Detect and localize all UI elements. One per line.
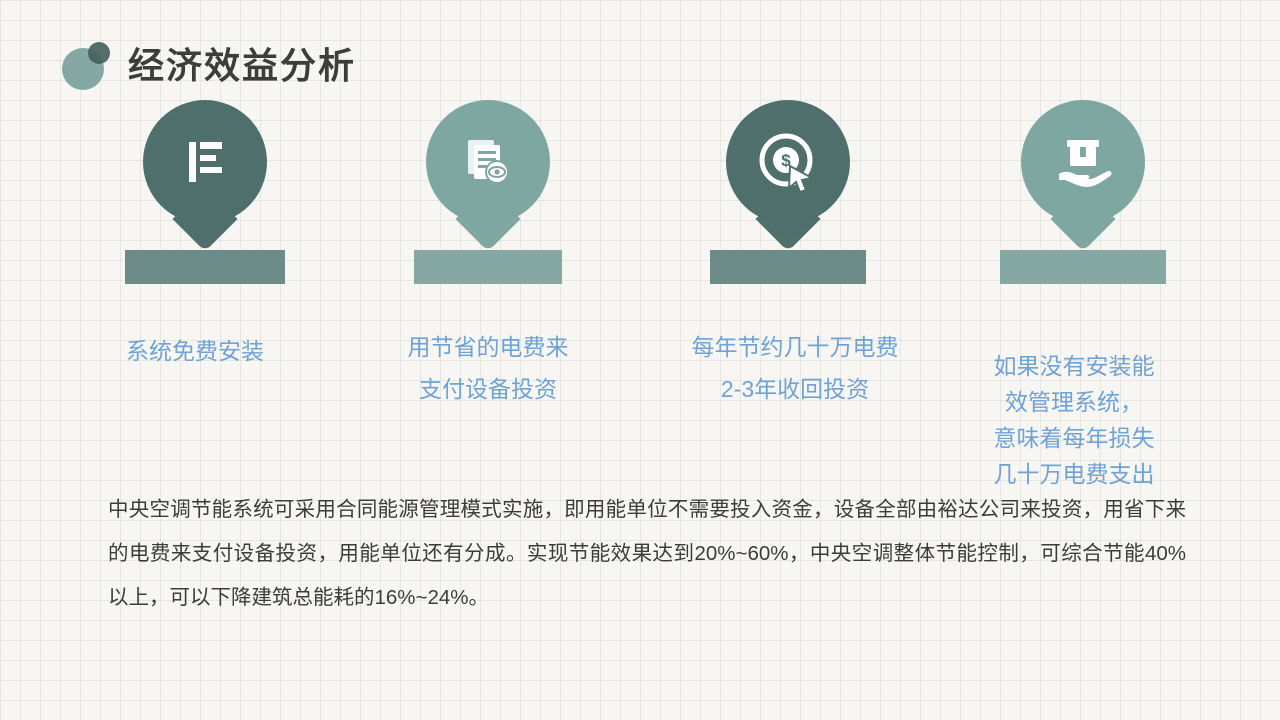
body-paragraph: 中央空调节能系统可采用合同能源管理模式实施，即用能单位不需要投入资金，设备全部由… (108, 488, 1186, 620)
hand-holding-box-icon (1021, 100, 1145, 224)
slide-title-group: 经济效益分析 (62, 38, 356, 94)
page-title: 经济效益分析 (128, 48, 356, 84)
pin-base-bar-1 (125, 250, 285, 284)
document-review-eye-icon (426, 100, 550, 224)
pin-base-bar-3 (710, 250, 866, 284)
pin-caption-1: 系统免费安装 (75, 330, 315, 372)
pin-marker-2 (426, 100, 550, 258)
pin-marker-3: $ (726, 100, 850, 258)
pin-caption-2: 用节省的电费来 支付设备投资 (358, 326, 618, 410)
slide-canvas: 经济效益分析 (0, 0, 1280, 720)
pin-row: $ (0, 100, 1280, 300)
pin-caption-3: 每年节约几十万电费 2-3年收回投资 (635, 326, 955, 410)
pin-item-4 (963, 100, 1203, 258)
pin-item-2 (368, 100, 608, 258)
pin-marker-1 (143, 100, 267, 258)
pin-base-bar-2 (414, 250, 562, 284)
caption-row: 系统免费安装 用节省的电费来 支付设备投资 每年节约几十万电费 2-3年收回投资… (0, 318, 1280, 478)
pin-base-bar-4 (1000, 250, 1166, 284)
pin-item-1 (85, 100, 325, 258)
document-lines-icon (143, 100, 267, 224)
dollar-coin-cursor-icon: $ (726, 100, 850, 224)
pin-caption-4: 如果没有安装能 效管理系统， 意味着每年损失 几十万电费支出 (950, 348, 1198, 492)
circle-small-icon (88, 42, 110, 64)
pin-item-3: $ (668, 100, 908, 258)
title-decor-dots (62, 42, 114, 90)
pin-marker-4 (1021, 100, 1145, 258)
